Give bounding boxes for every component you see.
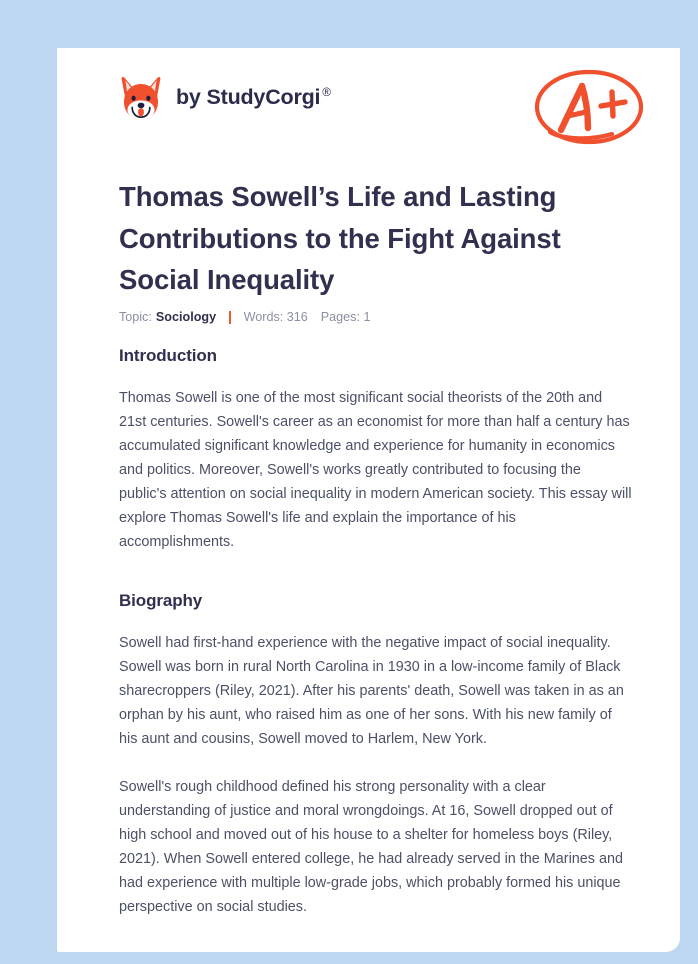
meta-words-count: Words: 316 xyxy=(244,310,308,324)
meta-topic-label: Topic: xyxy=(119,310,152,324)
document-meta: Topic: Sociology Words: 316 Pages: 1 xyxy=(119,310,370,324)
document-sheet: by StudyCorgi® Thomas Sowell’s Life and … xyxy=(57,48,680,952)
document-body: Introduction Thomas Sowell is one of the… xyxy=(119,346,632,937)
corgi-head-icon xyxy=(119,74,163,122)
meta-separator-icon xyxy=(229,311,231,324)
paragraph: Thomas Sowell is one of the most signifi… xyxy=(119,386,632,554)
paragraph: Sowell's rough childhood defined his str… xyxy=(119,775,632,919)
meta-topic-value[interactable]: Sociology xyxy=(156,310,216,324)
brand-title: StudyCorgi xyxy=(206,85,320,109)
brand-name: by StudyCorgi® xyxy=(176,87,331,109)
a-plus-grade-badge xyxy=(528,66,648,150)
brand-prefix: by xyxy=(176,85,206,109)
registered-trademark-icon: ® xyxy=(322,87,330,99)
section-heading-introduction: Introduction xyxy=(119,346,632,366)
section-heading-biography: Biography xyxy=(119,591,632,611)
studycorgi-brand-lockup[interactable]: by StudyCorgi® xyxy=(119,74,331,122)
document-header: by StudyCorgi® xyxy=(119,66,650,150)
paragraph: Sowell had first-hand experience with th… xyxy=(119,631,632,751)
meta-pages-count: Pages: 1 xyxy=(321,310,371,324)
page-title: Thomas Sowell’s Life and Lasting Contrib… xyxy=(119,176,629,301)
